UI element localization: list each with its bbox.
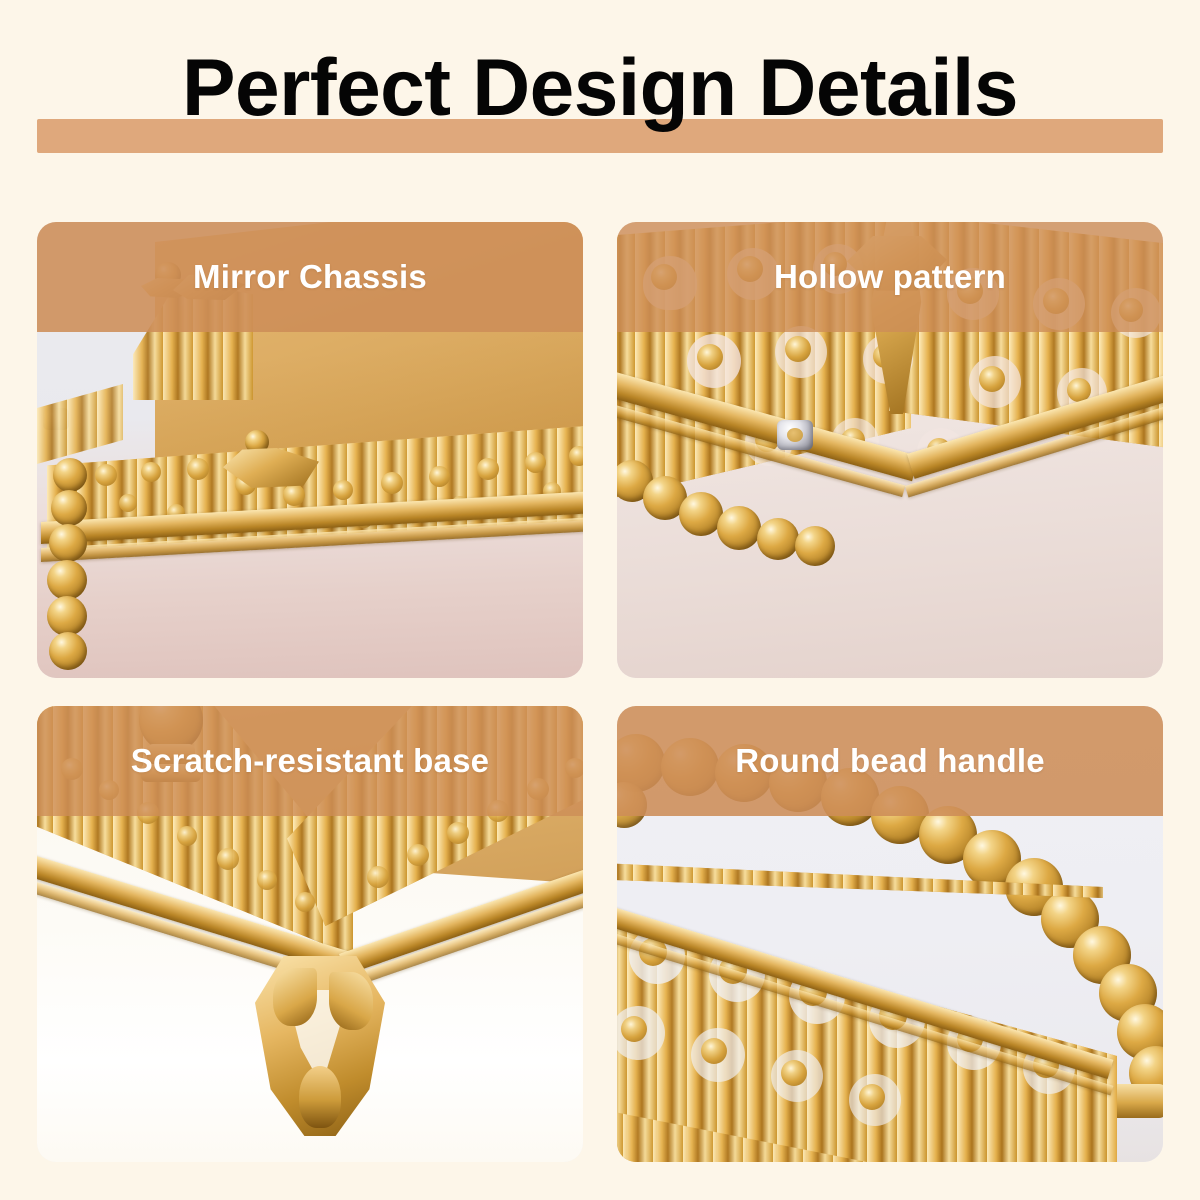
card-label-round-bead-handle: Round bead handle [735, 742, 1045, 780]
feature-card-scratch-resistant-base[interactable]: Scratch-resistant base [37, 706, 583, 1162]
card-label-hollow-pattern: Hollow pattern [774, 258, 1006, 296]
feature-card-round-bead-handle[interactable]: Round bead handle [617, 706, 1163, 1162]
card-label-scratch-resistant-base: Scratch-resistant base [131, 742, 489, 780]
card-banner-round-bead-handle: Round bead handle [617, 706, 1163, 816]
page-header: Perfect Design Details [0, 0, 1200, 200]
feature-card-grid: Mirror Chassis [37, 222, 1163, 1162]
feature-card-mirror-chassis[interactable]: Mirror Chassis [37, 222, 583, 678]
card-banner-scratch-resistant-base: Scratch-resistant base [37, 706, 583, 816]
card-label-mirror-chassis: Mirror Chassis [193, 258, 427, 296]
page-title: Perfect Design Details [6, 48, 1194, 129]
card-banner-mirror-chassis: Mirror Chassis [37, 222, 583, 332]
feature-card-hollow-pattern[interactable]: Hollow pattern [617, 222, 1163, 678]
card-banner-hollow-pattern: Hollow pattern [617, 222, 1163, 332]
